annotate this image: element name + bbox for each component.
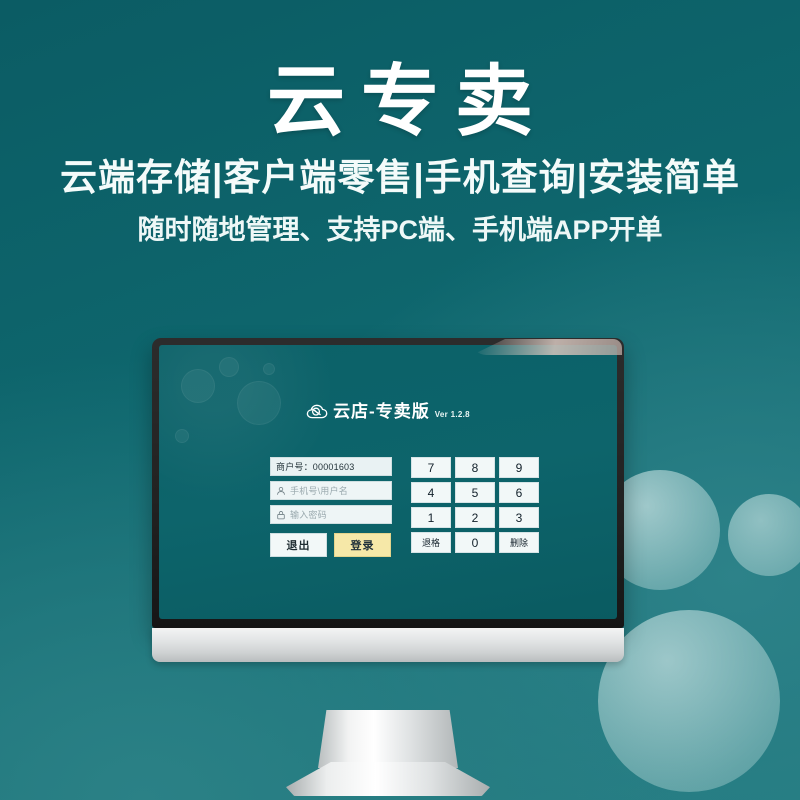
password-placeholder: 输入密码: [290, 508, 327, 521]
app-logo-text: 云店-专卖版: [333, 403, 430, 420]
merchant-id-label: 商户号：00001603: [276, 460, 354, 473]
login-button[interactable]: 登录: [334, 533, 391, 557]
key-backspace[interactable]: 退格: [411, 532, 451, 553]
monitor-stand-base: [286, 762, 490, 796]
login-form: 商户号：00001603 手机号\用户名: [270, 457, 392, 557]
app-version: Ver 1.2.8: [435, 411, 470, 419]
screen-bubble-2: [219, 357, 239, 377]
lock-icon: [276, 510, 286, 520]
key-9[interactable]: 9: [499, 457, 539, 478]
numeric-keypad: 789456123退格0删除: [411, 457, 539, 557]
username-placeholder: 手机号\用户名: [290, 484, 348, 497]
monitor-stand-neck: [318, 710, 458, 768]
merchant-id-field: 商户号：00001603: [270, 457, 392, 476]
monitor-mockup: 云店-专卖版 Ver 1.2.8 商户号：00001603: [152, 338, 624, 662]
username-field[interactable]: 手机号\用户名: [270, 481, 392, 500]
screen-bubble-1: [181, 369, 215, 403]
page-title: 云专卖: [0, 62, 800, 142]
key-7[interactable]: 7: [411, 457, 451, 478]
background-circle-3: [598, 610, 780, 792]
screen-bubble-5: [263, 363, 275, 375]
key-3[interactable]: 3: [499, 507, 539, 528]
feature-list: 云端存储|客户端零售|手机查询|安装简单: [0, 156, 800, 200]
monitor-bezel: 云店-专卖版 Ver 1.2.8 商户号：00001603: [152, 338, 624, 628]
tagline: 随时随地管理、支持PC端、手机端APP开单: [0, 214, 800, 246]
password-field[interactable]: 输入密码: [270, 505, 392, 524]
background-circle-2: [728, 494, 800, 576]
headline-block: 云专卖 云端存储|客户端零售|手机查询|安装简单 随时随地管理、支持PC端、手机…: [0, 0, 800, 246]
key-8[interactable]: 8: [455, 457, 495, 478]
monitor-chin: [152, 628, 624, 662]
app-logo: 云店-专卖版 Ver 1.2.8: [159, 403, 617, 420]
key-delete[interactable]: 删除: [499, 532, 539, 553]
screen-bubble-4: [175, 429, 189, 443]
user-icon: [276, 486, 286, 496]
monitor-screen: 云店-专卖版 Ver 1.2.8 商户号：00001603: [159, 345, 617, 619]
exit-button[interactable]: 退出: [270, 533, 327, 557]
login-panel: 商户号：00001603 手机号\用户名: [270, 457, 539, 557]
login-button-row: 退出 登录: [270, 533, 392, 557]
key-1[interactable]: 1: [411, 507, 451, 528]
key-4[interactable]: 4: [411, 482, 451, 503]
key-5[interactable]: 5: [455, 482, 495, 503]
key-0[interactable]: 0: [455, 532, 495, 553]
key-2[interactable]: 2: [455, 507, 495, 528]
cloud-store-icon: [306, 403, 328, 420]
promo-banner: 云专卖 云端存储|客户端零售|手机查询|安装简单 随时随地管理、支持PC端、手机…: [0, 0, 800, 800]
key-6[interactable]: 6: [499, 482, 539, 503]
